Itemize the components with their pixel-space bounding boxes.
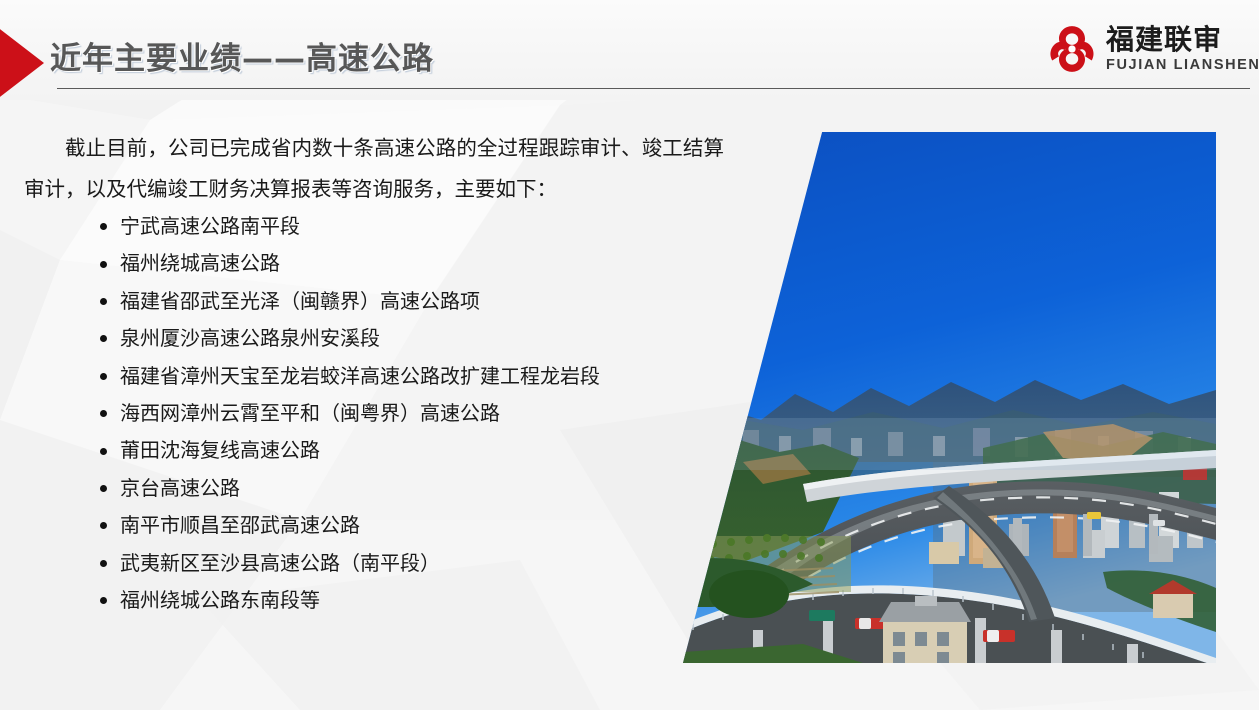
slide-header: 近年主要业绩——高速公路 福建联审 FUJIAN LIANSHEN bbox=[0, 0, 1259, 100]
red-arrow-icon bbox=[0, 26, 46, 100]
highway-project-list: 宁武高速公路南平段 福州绕城高速公路 福建省邵武至光泽（闽赣界）高速公路项 泉州… bbox=[98, 208, 718, 619]
list-item: 莆田沈海复线高速公路 bbox=[98, 432, 718, 469]
slide-root: 近年主要业绩——高速公路 福建联审 FUJIAN LIANSHEN 截止目前，公… bbox=[0, 0, 1259, 710]
aerial-highway-interchange-photo bbox=[683, 132, 1216, 663]
logo-name-en: FUJIAN LIANSHEN bbox=[1106, 58, 1259, 73]
content-area: 截止目前，公司已完成省内数十条高速公路的全过程跟踪审计、竣工结算审计，以及代编竣… bbox=[0, 100, 720, 710]
trefoil-logo-icon bbox=[1046, 23, 1098, 75]
company-logo: 福建联审 FUJIAN LIANSHEN bbox=[1046, 18, 1259, 80]
list-item: 福建省邵武至光泽（闽赣界）高速公路项 bbox=[98, 283, 718, 320]
list-item: 福州绕城高速公路 bbox=[98, 245, 718, 282]
list-item: 宁武高速公路南平段 bbox=[98, 208, 718, 245]
list-item: 南平市顺昌至邵武高速公路 bbox=[98, 507, 718, 544]
intro-paragraph: 截止目前，公司已完成省内数十条高速公路的全过程跟踪审计、竣工结算审计，以及代编竣… bbox=[24, 128, 724, 210]
logo-name-cn: 福建联审 bbox=[1106, 26, 1259, 54]
list-item: 福建省漳州天宝至龙岩蛟洋高速公路改扩建工程龙岩段 bbox=[98, 358, 718, 395]
list-item: 武夷新区至沙县高速公路（南平段） bbox=[98, 545, 718, 582]
list-item: 京台高速公路 bbox=[98, 470, 718, 507]
page-title: 近年主要业绩——高速公路 bbox=[50, 33, 434, 78]
header-divider bbox=[57, 88, 1250, 89]
list-item: 福州绕城公路东南段等 bbox=[98, 582, 718, 619]
list-item: 海西网漳州云霄至平和（闽粤界）高速公路 bbox=[98, 395, 718, 432]
list-item: 泉州厦沙高速公路泉州安溪段 bbox=[98, 320, 718, 357]
